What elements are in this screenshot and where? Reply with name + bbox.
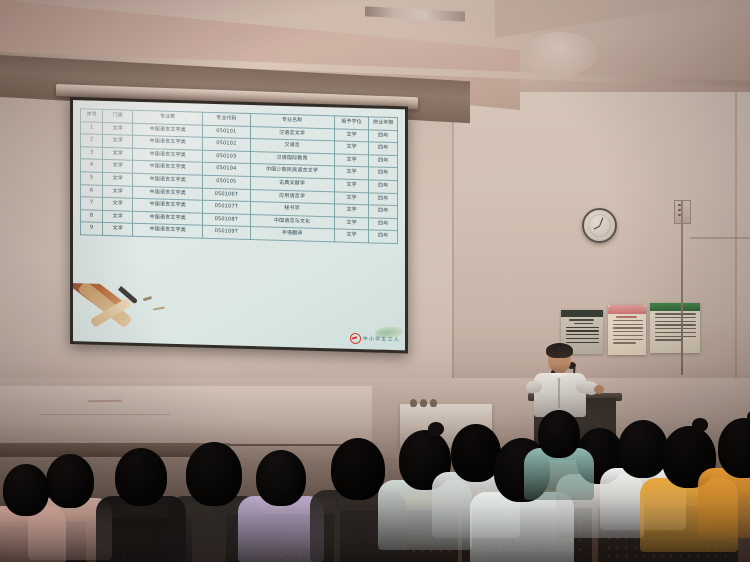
cell-duration: 四年 [369, 218, 398, 231]
audience-torso [698, 468, 750, 538]
audience-head [115, 448, 167, 506]
audience-member [96, 448, 186, 562]
cell-index: 8 [81, 210, 103, 223]
poster-green-right[interactable] [650, 303, 700, 353]
poster-header-green [650, 303, 700, 311]
clock-face [587, 213, 612, 238]
poster-header-dark [561, 310, 603, 317]
cell-degree: 文学 [334, 166, 369, 180]
cell-duration: 四年 [369, 155, 398, 168]
cell-duration: 四年 [369, 230, 398, 243]
wall-conduit-cable [681, 200, 683, 375]
audience [0, 380, 750, 562]
cell-index: 4 [81, 159, 103, 172]
poster-body-green [650, 311, 700, 353]
cell-duration: 四年 [369, 180, 398, 193]
calligraphy-brush-icon [73, 283, 178, 340]
audience-head [538, 410, 580, 458]
cell-degree: 文学 [334, 229, 369, 243]
slide-logo: 中小学生三人 [350, 333, 400, 345]
majors-table: 序号 门类 专业类 专业代码 专业名称 授予学位 修业年限 1文学中国语言文学类… [80, 108, 398, 244]
red-circle-logo-icon [350, 333, 361, 344]
cell-duration: 四年 [369, 192, 398, 205]
audience-head [718, 418, 750, 478]
col-header-index: 序号 [81, 109, 103, 122]
col-header-category: 门类 [103, 109, 133, 122]
cell-category: 文学 [103, 147, 133, 160]
projection-screen-surface: 序号 门类 专业类 专业代码 专业名称 授予学位 修业年限 1文学中国语言文学类… [73, 100, 405, 350]
cell-degree: 文学 [334, 128, 369, 142]
cell-degree: 文学 [334, 141, 369, 155]
cell-index: 1 [81, 121, 103, 134]
cell-duration: 四年 [369, 167, 398, 180]
cell-major-class: 中国语言文学类 [133, 224, 203, 239]
projection-screen[interactable]: 序号 门类 专业类 专业代码 专业名称 授予学位 修业年限 1文学中国语言文学类… [70, 97, 408, 353]
poster-pink-center[interactable] [608, 305, 646, 355]
col-header-duration: 修业年限 [369, 117, 398, 130]
audience-member [698, 418, 750, 548]
majors-table-body: 1文学中国语言文学类050101汉语言文学文学四年2文学中国语言文学类05010… [81, 121, 398, 243]
cell-category: 文学 [103, 172, 133, 185]
wall-clock-icon [582, 208, 617, 243]
cell-degree: 文学 [334, 191, 369, 205]
cell-index: 5 [81, 172, 103, 185]
cell-degree: 文学 [334, 204, 369, 218]
cell-major-code: 050109T [203, 226, 251, 240]
cell-degree: 文学 [334, 154, 369, 168]
cell-degree: 文学 [334, 179, 369, 193]
cell-category: 文学 [103, 223, 133, 236]
poster-body-pink [608, 314, 646, 355]
slide-content: 序号 门类 专业类 专业代码 专业名称 授予学位 修业年限 1文学中国语言文学类… [73, 100, 405, 350]
cell-duration: 四年 [369, 129, 398, 142]
cell-category: 文学 [103, 122, 133, 135]
audience-head [256, 450, 306, 506]
poster-header-pink [608, 305, 646, 314]
cell-index: 2 [81, 134, 103, 147]
cell-index: 7 [81, 197, 103, 210]
ceiling-column-shadow [522, 32, 598, 76]
audience-member [0, 464, 66, 562]
slide-logo-text: 中小学生三人 [363, 335, 400, 343]
audience-head [3, 464, 49, 516]
audience-head [186, 442, 242, 506]
wall-trim-line [690, 237, 750, 239]
cell-duration: 四年 [369, 205, 398, 218]
cell-category: 文学 [103, 198, 133, 211]
cell-index: 6 [81, 184, 103, 197]
cell-category: 文学 [103, 160, 133, 173]
cell-category: 文学 [103, 185, 133, 198]
audience-member [524, 410, 594, 510]
lecture-hall-photo: 序号 门类 专业类 专业代码 专业名称 授予学位 修业年限 1文学中国语言文学类… [0, 0, 750, 562]
cell-index: 9 [81, 222, 103, 235]
wall-seam-2 [735, 70, 737, 380]
cell-duration: 四年 [369, 142, 398, 155]
audience-head [331, 438, 385, 500]
cell-degree: 文学 [334, 217, 369, 231]
cell-category: 文学 [103, 135, 133, 148]
cell-category: 文学 [103, 210, 133, 223]
col-header-degree: 授予学位 [334, 116, 369, 130]
cell-index: 3 [81, 147, 103, 160]
cell-major-name: 手语翻译 [250, 227, 334, 242]
